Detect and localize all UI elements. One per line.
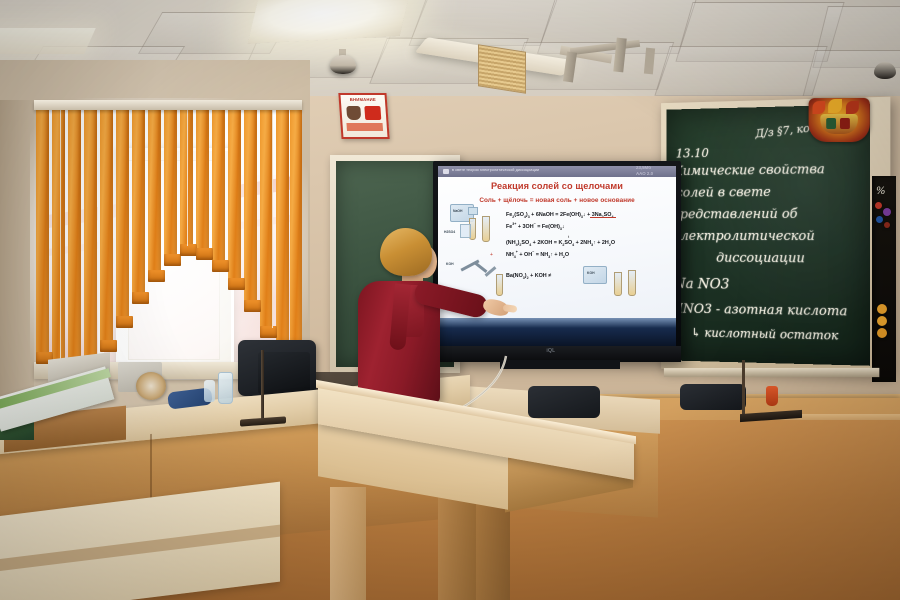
blind-weight bbox=[228, 278, 245, 290]
chalk-formula-2: HNO3 - азотная кислота bbox=[672, 302, 847, 320]
safety-sign-heading: ВНИМАНИЕ bbox=[341, 97, 385, 102]
reagent-bottle bbox=[583, 266, 607, 284]
lab-stand-rod bbox=[485, 266, 497, 277]
chalk-line-4: диссоциации bbox=[716, 251, 805, 266]
blind-slat[interactable] bbox=[290, 108, 302, 370]
slide-equation-1: Fe3+ + 3OH− = Fe(OH)3↓ bbox=[506, 222, 565, 231]
screen-glare bbox=[438, 318, 676, 328]
beaker bbox=[460, 224, 471, 238]
blind-rail[interactable] bbox=[34, 100, 302, 110]
chalk-line-2: представлений об bbox=[672, 207, 797, 222]
blind-slat[interactable] bbox=[228, 108, 241, 284]
blind-slat[interactable] bbox=[148, 108, 161, 276]
blind-weight bbox=[116, 316, 133, 328]
emblem-leaf bbox=[828, 99, 842, 113]
display-screen[interactable]: в свете теории электролитической диссоци… bbox=[438, 166, 676, 346]
slide-equation-3: NH4+ + OH− = NH3↑ + H2O bbox=[506, 250, 569, 259]
ceiling-light-secondary bbox=[0, 28, 96, 54]
test-tube bbox=[614, 272, 622, 296]
blind-weight bbox=[180, 244, 197, 256]
lab-label-koh: KOH bbox=[446, 262, 454, 266]
emblem-quarter bbox=[840, 118, 850, 129]
school-coat-of-arms-icon bbox=[809, 98, 870, 142]
security-camera-icon bbox=[874, 62, 896, 79]
ceiling-tile bbox=[654, 46, 827, 96]
test-tube bbox=[482, 216, 490, 242]
blind-cord[interactable] bbox=[187, 110, 188, 246]
chalk-tray bbox=[664, 368, 879, 377]
alarm-icon bbox=[364, 106, 381, 120]
blind-weight bbox=[260, 326, 277, 338]
blind-cord[interactable] bbox=[272, 110, 273, 328]
chalk-date: 13.10 bbox=[676, 146, 709, 160]
chalk-line-3: электролитической bbox=[674, 229, 815, 244]
chalk-annotation: ↳ кислотный остаток bbox=[691, 326, 838, 343]
blind-slat[interactable] bbox=[52, 108, 65, 366]
model-atom bbox=[877, 304, 887, 314]
blind-slat[interactable] bbox=[36, 108, 49, 358]
monitor[interactable] bbox=[258, 352, 310, 394]
chalk-line-1: солей в свете bbox=[676, 185, 771, 201]
emblem-quarter bbox=[826, 118, 836, 129]
chair[interactable] bbox=[680, 384, 746, 410]
model-atom bbox=[877, 316, 887, 326]
plus-marker: + bbox=[490, 252, 495, 257]
test-tube bbox=[496, 274, 503, 296]
blind-slat[interactable] bbox=[164, 108, 177, 260]
wall-corner bbox=[0, 100, 34, 430]
water-bottle[interactable] bbox=[218, 372, 233, 404]
equation-underline bbox=[590, 217, 616, 218]
model-atom bbox=[877, 328, 887, 338]
red-flask[interactable] bbox=[766, 386, 778, 406]
interactive-display[interactable]: в свете теории электролитической диссоци… bbox=[433, 161, 681, 360]
molecular-model-panel: % bbox=[872, 176, 896, 382]
blind-weight bbox=[132, 292, 149, 304]
app-bar-breadcrumb: в свете теории электролитической диссоци… bbox=[452, 168, 539, 172]
blind-weight bbox=[196, 248, 213, 260]
model-atom bbox=[876, 216, 883, 223]
model-atom bbox=[884, 222, 890, 228]
blind-weight bbox=[212, 260, 229, 272]
podium-leg bbox=[438, 492, 476, 600]
emblem-leaf bbox=[812, 101, 825, 114]
blind-cord[interactable] bbox=[60, 110, 61, 360]
blind-slat[interactable] bbox=[196, 108, 209, 254]
model-label: % bbox=[876, 186, 890, 198]
display-mount bbox=[500, 360, 620, 369]
blind-slat[interactable] bbox=[68, 108, 81, 370]
blind-slat[interactable] bbox=[100, 108, 113, 346]
display-brand-logo: iQL bbox=[541, 348, 561, 355]
water-bottle[interactable] bbox=[204, 380, 215, 402]
safety-sign: ВНИМАНИЕ bbox=[338, 93, 389, 139]
lab-stand-rod bbox=[742, 360, 745, 414]
classroom-scene: ВНИМАНИЕ Д/з bbox=[0, 0, 900, 600]
slide-equation-4: Ba(NO3)2 + KOH ≠ bbox=[506, 273, 551, 280]
lab-stand-rod bbox=[261, 350, 264, 422]
chalkboard[interactable]: Д/з §7, конспект 13.10 Химические свойст… bbox=[666, 104, 870, 366]
emblem-leaf bbox=[846, 101, 859, 114]
blind-weight bbox=[148, 270, 165, 282]
lab-label-naoh: NaOH bbox=[453, 209, 462, 213]
fire-extinguisher-icon bbox=[346, 106, 361, 120]
chalk-formula-1: Na NO3 bbox=[674, 276, 729, 292]
app-bar-version: ААО 2.0 bbox=[636, 171, 653, 176]
lab-label-koh-2: KOH bbox=[587, 271, 595, 275]
slideshow-icon bbox=[443, 169, 449, 174]
lab-stand-rod bbox=[475, 262, 488, 273]
blind-weight bbox=[164, 254, 181, 266]
teacher-hair bbox=[380, 228, 432, 276]
test-tube bbox=[628, 270, 636, 296]
blind-slat[interactable] bbox=[116, 108, 129, 322]
lab-label-h2so4: H2SO4 bbox=[444, 230, 455, 234]
blind-slat[interactable] bbox=[276, 108, 289, 356]
podium-leg bbox=[476, 500, 510, 600]
chalk-line-0: Химические свойства bbox=[674, 162, 825, 179]
slide-equation-2: (NH4)2SO4 + 2KOH = K2SO4 + 2NH3↑ + 2H2O bbox=[506, 240, 615, 247]
lab-clamp[interactable] bbox=[136, 372, 166, 400]
blind-slat[interactable] bbox=[212, 108, 225, 266]
wall-vent-icon bbox=[478, 44, 526, 94]
model-atom bbox=[883, 208, 891, 216]
bottle-neck bbox=[468, 207, 478, 215]
safety-sign-footer bbox=[346, 123, 383, 131]
blind-slat[interactable] bbox=[132, 108, 145, 298]
chair[interactable] bbox=[528, 386, 600, 418]
podium-leg bbox=[330, 487, 366, 600]
blind-weight bbox=[100, 340, 117, 352]
presentation-app-bar: в свете теории электролитической диссоци… bbox=[438, 166, 676, 177]
app-bar-size: 23,5Мб bbox=[636, 166, 651, 170]
security-camera-icon bbox=[330, 55, 356, 74]
slide-subtitle: Соль + щёлочь = новая соль + новое основ… bbox=[438, 197, 676, 204]
model-atom bbox=[875, 202, 882, 209]
temperature-marker: t bbox=[568, 234, 569, 239]
blind-slat[interactable] bbox=[244, 108, 257, 306]
slide-title: Реакция солей со щелочами bbox=[438, 181, 676, 191]
blind-weight bbox=[244, 300, 261, 312]
blind-slat[interactable] bbox=[84, 108, 97, 364]
